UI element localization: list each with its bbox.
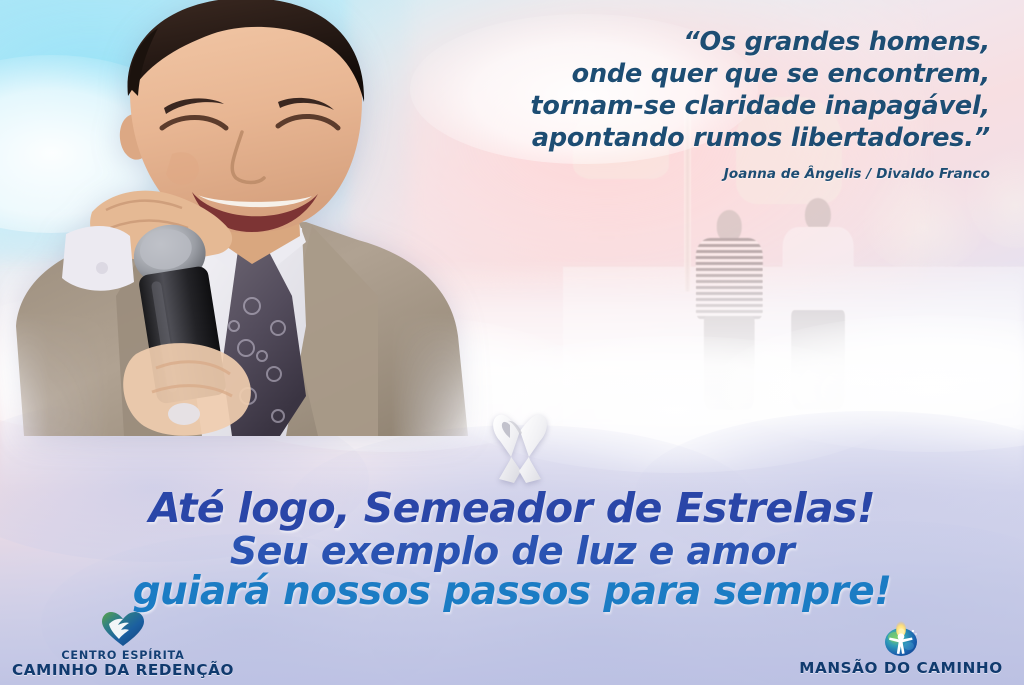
quote-line-2: onde quer que se encontrem, <box>430 58 990 90</box>
mourning-ribbon-icon <box>481 405 559 487</box>
quote-line-3: tornam-se claridade inapagável, <box>430 90 990 122</box>
quote-line-4: apontando rumos libertadores.” <box>430 122 990 154</box>
logo-centro-espirita: CENTRO ESPÍRITA CAMINHO DA REDENÇÃO <box>8 611 238 679</box>
portrait-photo <box>6 0 476 436</box>
globe-figure-torch-icon <box>879 620 923 658</box>
heart-hand-icon <box>101 611 145 647</box>
logo-mansao-do-caminho: MANSÃO DO CAMINHO <box>786 620 1016 677</box>
headline-block: Até logo, Semeador de Estrelas! Seu exem… <box>0 487 1024 613</box>
logo-right-line-1: MANSÃO DO CAMINHO <box>786 660 1016 677</box>
quote-line-1: “Os grandes homens, <box>430 26 990 58</box>
quote-attribution: Joanna de Ângelis / Divaldo Franco <box>430 166 990 182</box>
quote-block: “Os grandes homens, onde quer que se enc… <box>430 26 990 182</box>
logo-left-line-2: CAMINHO DA REDENÇÃO <box>8 662 238 679</box>
headline-line-1: Até logo, Semeador de Estrelas! <box>0 487 1024 530</box>
headline-line-3: guiará nossos passos para sempre! <box>0 572 1024 613</box>
headline-line-2: Seu exemplo de luz e amor <box>0 532 1024 572</box>
memorial-poster: “Os grandes homens, onde quer que se enc… <box>0 0 1024 685</box>
